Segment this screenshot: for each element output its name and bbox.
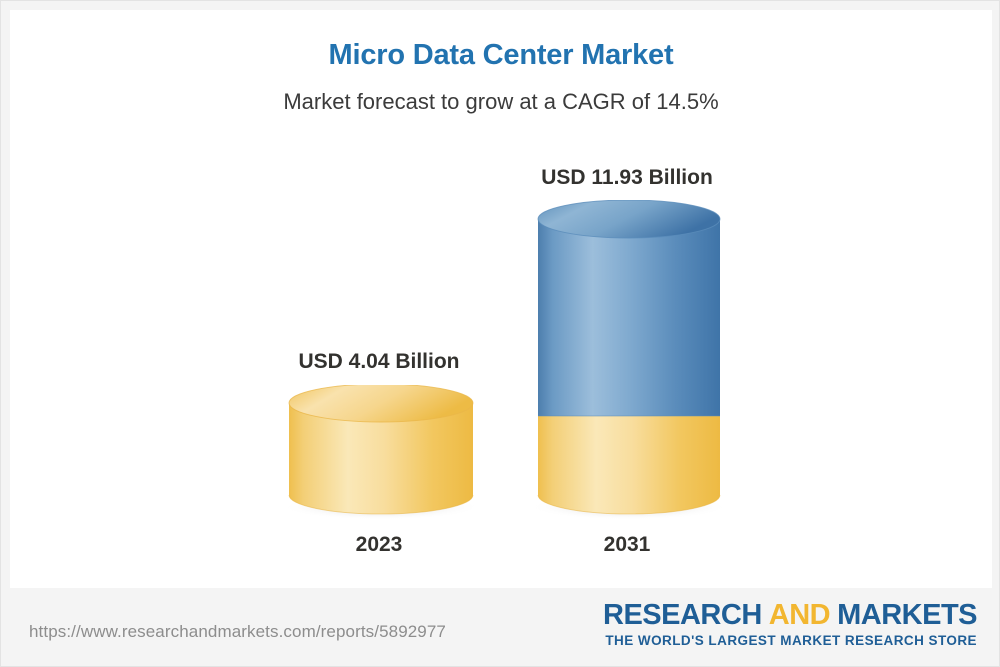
logo-word-and: AND [769, 599, 830, 631]
page-title: Micro Data Center Market [1, 39, 1000, 72]
brand-logo: RESEARCHANDMARKETS THE WORLD'S LARGEST M… [603, 601, 977, 648]
value-label-2023: USD 4.04 Billion [229, 350, 529, 374]
bar-cylinder-2031 [529, 200, 739, 525]
category-label-2023: 2023 [279, 533, 479, 557]
logo-word-markets: MARKETS [837, 599, 977, 631]
value-label-2031: USD 11.93 Billion [477, 166, 777, 190]
bar-cylinder-2023 [281, 385, 491, 525]
category-label-2031: 2031 [527, 533, 727, 557]
page-subtitle: Market forecast to grow at a CAGR of 14.… [1, 89, 1000, 115]
logo-word-research: RESEARCH [603, 599, 762, 631]
infographic-container: Micro Data Center Market Market forecast… [0, 0, 1000, 667]
report-url[interactable]: https://www.researchandmarkets.com/repor… [29, 622, 446, 642]
logo-tagline: THE WORLD'S LARGEST MARKET RESEARCH STOR… [603, 633, 977, 648]
logo-wordmark: RESEARCHANDMARKETS [603, 601, 977, 630]
